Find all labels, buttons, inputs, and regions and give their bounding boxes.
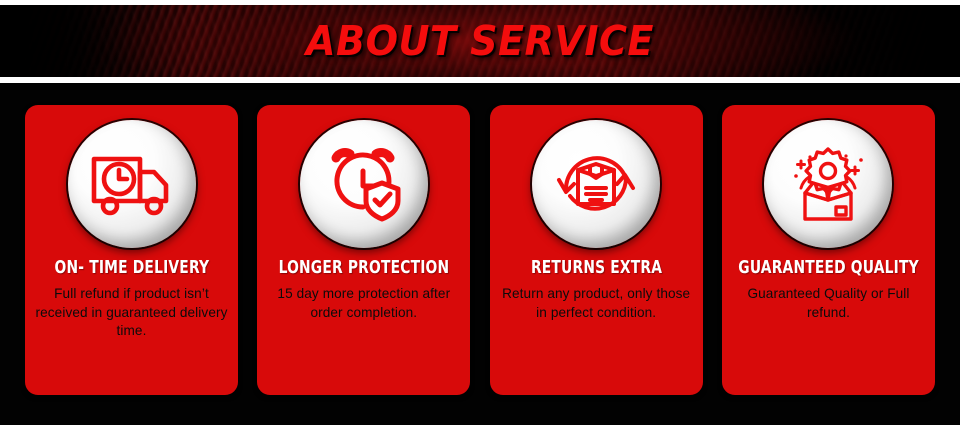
card-description: Guaranteed Quality or Full refund. xyxy=(730,285,926,322)
return-box-arrows-icon xyxy=(554,143,638,225)
card-description: Full refund if product isn’t received in… xyxy=(34,285,230,341)
service-card-on-time-delivery[interactable]: ON- TIME DELIVERY Full refund if product… xyxy=(25,105,238,395)
alarm-clock-shield-check-icon xyxy=(324,145,404,223)
header-banner: ABOUT SERVICE xyxy=(0,5,960,77)
service-card-list: ON- TIME DELIVERY Full refund if product… xyxy=(25,105,935,395)
icon-badge xyxy=(532,120,660,248)
about-service-banner-graphic: ABOUT SERVICE ON- TIME DELIVERY xyxy=(0,0,960,433)
card-description: Return any product, only those in perfec… xyxy=(498,285,694,322)
open-box-quality-badge-icon xyxy=(783,143,873,225)
icon-badge xyxy=(68,120,196,248)
delivery-truck-clock-icon xyxy=(90,149,174,219)
service-card-guaranteed-quality[interactable]: GUARANTEED QUALITY Guaranteed Quality or… xyxy=(722,105,935,395)
card-title: GUARANTEED QUALITY xyxy=(738,258,918,278)
card-title: LONGER PROTECTION xyxy=(279,258,450,278)
card-title: ON- TIME DELIVERY xyxy=(54,258,209,278)
card-description: 15 day more protection after order compl… xyxy=(266,285,462,322)
service-card-returns-extra[interactable]: RETURNS EXTRA Return any product, only t… xyxy=(490,105,703,395)
page-title: ABOUT SERVICE xyxy=(34,5,927,77)
service-card-longer-protection[interactable]: LONGER PROTECTION 15 day more protection… xyxy=(257,105,470,395)
icon-badge xyxy=(764,120,892,248)
icon-badge xyxy=(300,120,428,248)
card-title: RETURNS EXTRA xyxy=(531,258,662,278)
bottom-white-strip xyxy=(0,425,960,433)
